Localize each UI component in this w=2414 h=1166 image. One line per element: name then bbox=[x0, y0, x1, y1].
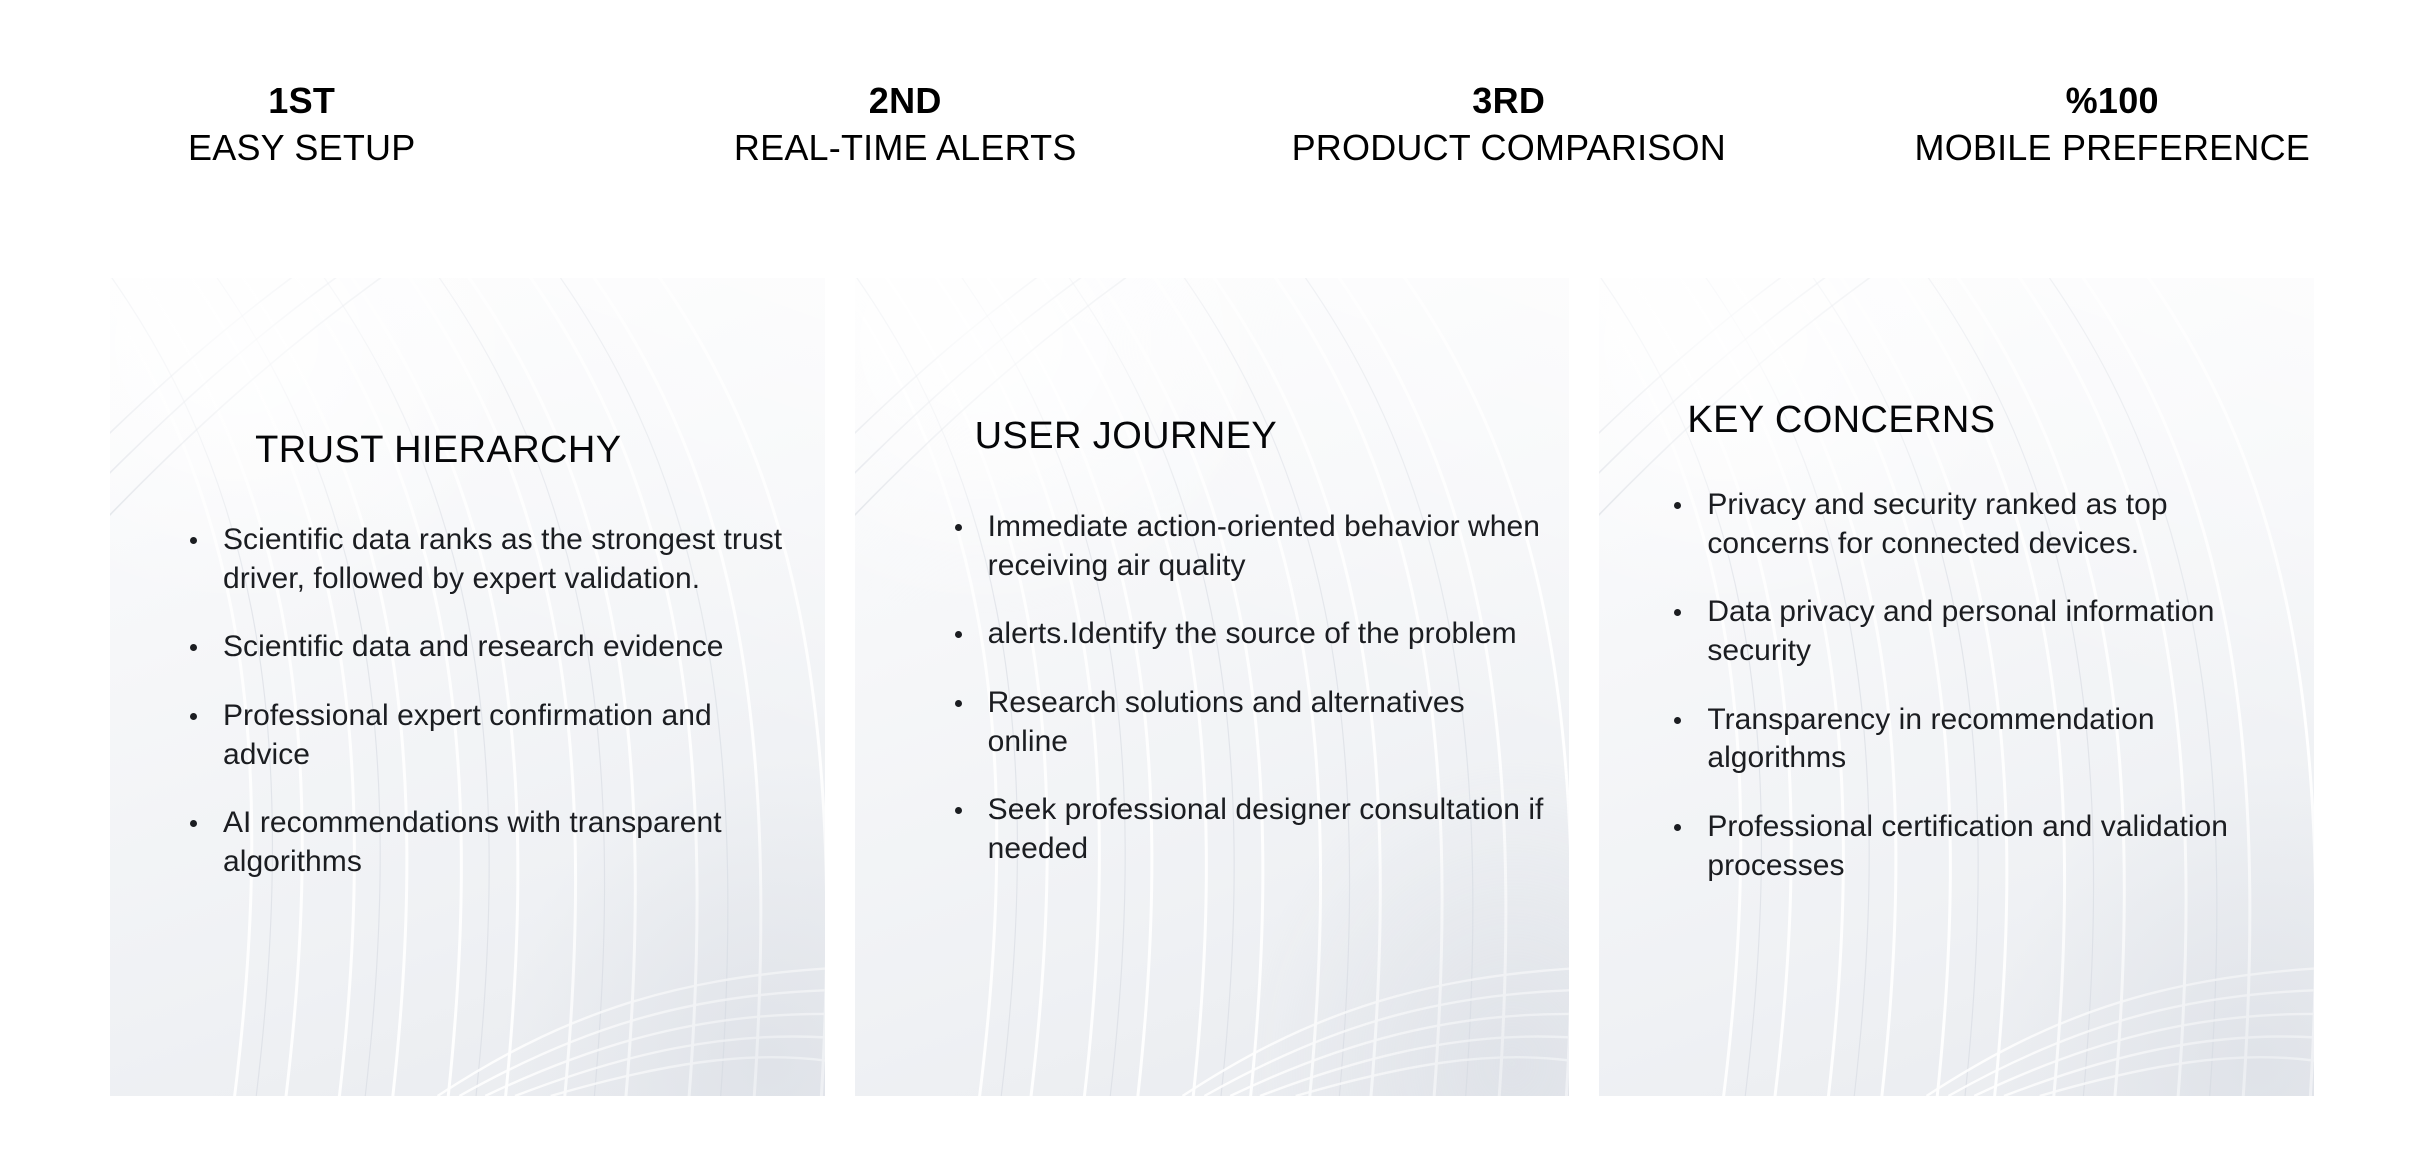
list-item: Seek professional designer consultation … bbox=[948, 791, 1548, 868]
stat-value: 2ND bbox=[604, 82, 1208, 120]
list-item: Research solutions and alternatives onli… bbox=[948, 684, 1548, 761]
bullet-dot-icon bbox=[955, 807, 962, 814]
stat-block-3: 3RD PRODUCT COMPARISON bbox=[1207, 82, 1811, 167]
bullet-dot-icon bbox=[1674, 824, 1681, 831]
list-item: Scientific data and research evidence bbox=[183, 628, 783, 667]
list-item: Professional expert confirmation and adv… bbox=[183, 697, 783, 774]
bullet-list: Privacy and security ranked as top conce… bbox=[1667, 486, 2267, 886]
bullet-dot-icon bbox=[955, 524, 962, 531]
list-item: Professional certification and validatio… bbox=[1667, 808, 2267, 885]
card-title: USER JOURNEY bbox=[855, 416, 1570, 458]
stat-label: MOBILE PREFERENCE bbox=[1811, 128, 2414, 168]
stat-block-4: %100 MOBILE PREFERENCE bbox=[1811, 82, 2414, 167]
stat-block-1: 1ST EASY SETUP bbox=[0, 82, 604, 167]
stat-value: 3RD bbox=[1207, 82, 1811, 120]
bullet-dot-icon bbox=[1674, 717, 1681, 724]
list-item: Immediate action-oriented behavior when … bbox=[948, 508, 1548, 585]
list-item-text: Scientific data ranks as the strongest t… bbox=[223, 521, 783, 598]
card-content: KEY CONCERNS Privacy and security ranked… bbox=[1599, 278, 2314, 1096]
card-title: TRUST HIERARCHY bbox=[110, 430, 825, 472]
stats-row: 1ST EASY SETUP 2ND REAL-TIME ALERTS 3RD … bbox=[0, 82, 2414, 167]
bullet-dot-icon bbox=[190, 537, 197, 544]
stat-label: EASY SETUP bbox=[0, 128, 604, 168]
card-user-journey: USER JOURNEY Immediate action-oriented b… bbox=[855, 278, 1570, 1096]
card-key-concerns: KEY CONCERNS Privacy and security ranked… bbox=[1599, 278, 2314, 1096]
card-content: USER JOURNEY Immediate action-oriented b… bbox=[855, 278, 1570, 1096]
list-item-text: alerts.Identify the source of the proble… bbox=[988, 615, 1548, 654]
card-trust-hierarchy: TRUST HIERARCHY Scientific data ranks as… bbox=[110, 278, 825, 1096]
stat-label: PRODUCT COMPARISON bbox=[1207, 128, 1811, 168]
bullet-dot-icon bbox=[955, 700, 962, 707]
list-item-text: Data privacy and personal information se… bbox=[1707, 593, 2267, 670]
list-item: Transparency in recommendation algorithm… bbox=[1667, 701, 2267, 778]
bullet-dot-icon bbox=[190, 820, 197, 827]
bullet-dot-icon bbox=[190, 713, 197, 720]
list-item-text: Scientific data and research evidence bbox=[223, 628, 783, 667]
list-item: alerts.Identify the source of the proble… bbox=[948, 615, 1548, 654]
list-item-text: Immediate action-oriented behavior when … bbox=[988, 508, 1548, 585]
bullet-dot-icon bbox=[955, 631, 962, 638]
card-title: KEY CONCERNS bbox=[1599, 400, 2314, 442]
list-item: Scientific data ranks as the strongest t… bbox=[183, 521, 783, 598]
stat-label: REAL-TIME ALERTS bbox=[604, 128, 1208, 168]
list-item: Data privacy and personal information se… bbox=[1667, 593, 2267, 670]
bullet-list: Scientific data ranks as the strongest t… bbox=[183, 521, 783, 882]
list-item: Privacy and security ranked as top conce… bbox=[1667, 486, 2267, 563]
list-item-text: Professional certification and validatio… bbox=[1707, 808, 2267, 885]
list-item: AI recommendations with transparent algo… bbox=[183, 804, 783, 881]
list-item-text: Transparency in recommendation algorithm… bbox=[1707, 701, 2267, 778]
stat-value: %100 bbox=[1811, 82, 2414, 120]
bullet-dot-icon bbox=[1674, 609, 1681, 616]
list-item-text: Research solutions and alternatives onli… bbox=[988, 684, 1548, 761]
bullet-dot-icon bbox=[1674, 502, 1681, 509]
slide-canvas: 1ST EASY SETUP 2ND REAL-TIME ALERTS 3RD … bbox=[0, 0, 2414, 1166]
list-item-text: Seek professional designer consultation … bbox=[988, 791, 1548, 868]
stat-value: 1ST bbox=[0, 82, 604, 120]
card-content: TRUST HIERARCHY Scientific data ranks as… bbox=[110, 278, 825, 1096]
bullet-dot-icon bbox=[190, 644, 197, 651]
cards-row: TRUST HIERARCHY Scientific data ranks as… bbox=[110, 278, 2314, 1096]
list-item-text: Professional expert confirmation and adv… bbox=[223, 697, 783, 774]
stat-block-2: 2ND REAL-TIME ALERTS bbox=[604, 82, 1208, 167]
bullet-list: Immediate action-oriented behavior when … bbox=[948, 508, 1548, 869]
list-item-text: Privacy and security ranked as top conce… bbox=[1707, 486, 2267, 563]
list-item-text: AI recommendations with transparent algo… bbox=[223, 804, 783, 881]
